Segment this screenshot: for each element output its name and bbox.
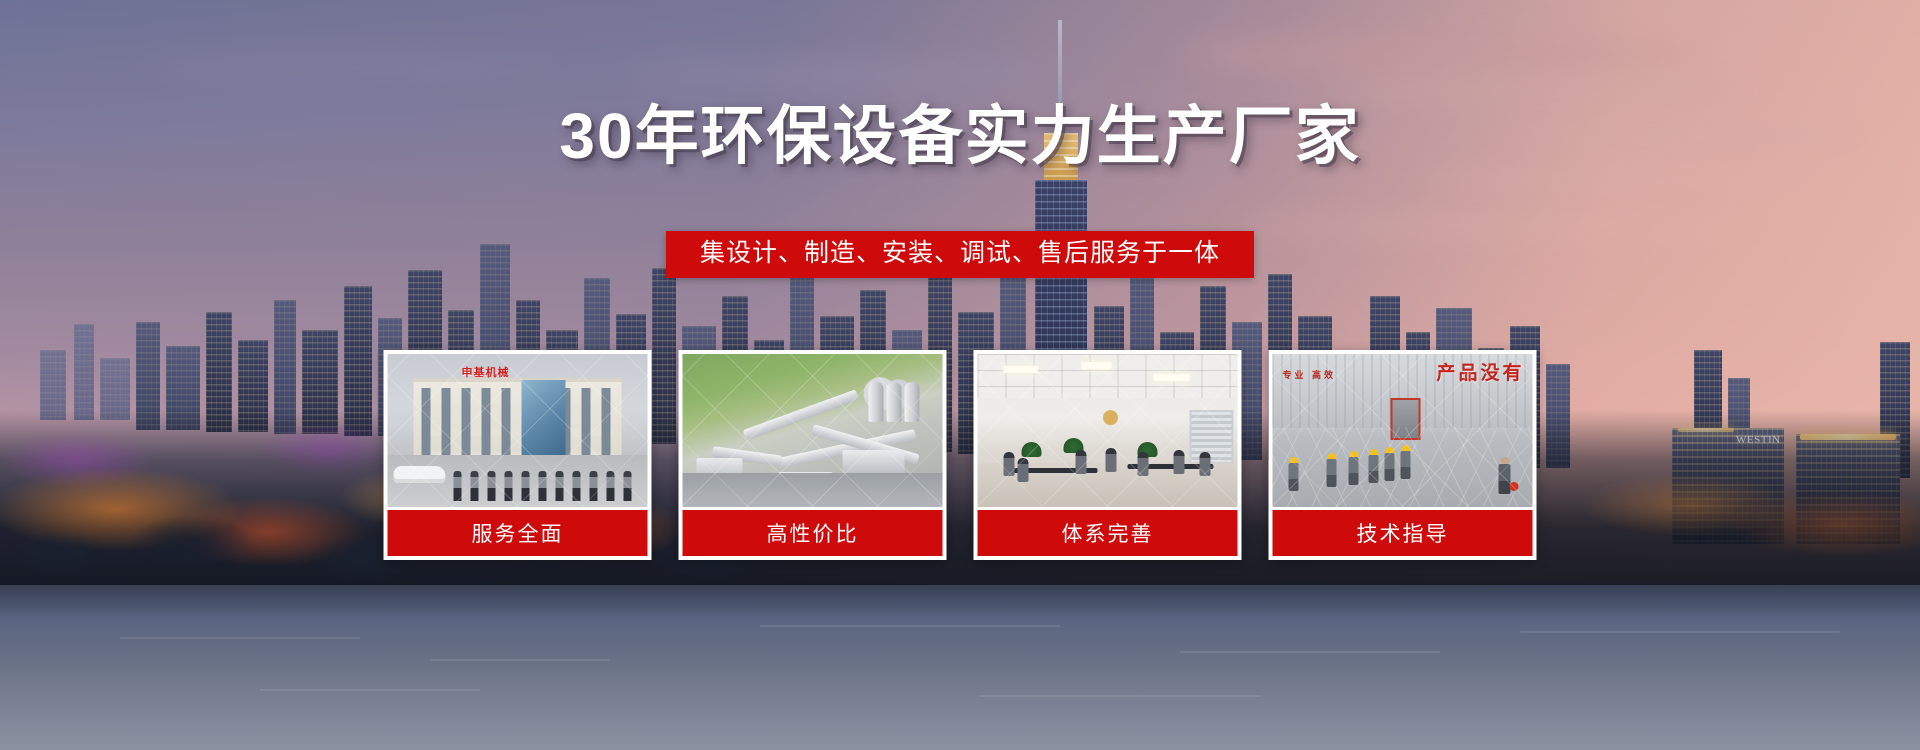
feature-card[interactable]: 体系完善 xyxy=(974,350,1242,560)
feature-card[interactable]: 申基机械 服务全面 xyxy=(384,350,652,560)
feature-card[interactable]: 专业 高效 产品没有 技术指导 xyxy=(1269,350,1537,560)
headline: 30年环保设备实力生产厂家 xyxy=(0,104,1920,168)
card-photo-service: 申基机械 xyxy=(388,354,648,507)
card-photo-plant xyxy=(683,354,943,507)
subtitle-banner: 集设计、制造、安装、调试、售后服务于一体 xyxy=(666,231,1254,278)
feature-card[interactable]: 高性价比 xyxy=(679,350,947,560)
card-label: 服务全面 xyxy=(388,510,648,556)
banner-content: 30年环保设备实力生产厂家 集设计、制造、安装、调试、售后服务于一体 申基机械 xyxy=(0,0,1920,750)
feature-cards: 申基机械 服务全面 xyxy=(384,350,1537,560)
hero-banner: WESTIN 30年环保设备实力生产厂家 集设计、制造、安装、调试、售后服务于一… xyxy=(0,0,1920,750)
card-label: 体系完善 xyxy=(978,510,1238,556)
factory-wall-text: 产品没有 xyxy=(1436,358,1524,385)
card-photo-office xyxy=(978,354,1238,507)
factory-wall-small-text: 专业 高效 xyxy=(1283,368,1337,381)
card-photo-factory: 专业 高效 产品没有 xyxy=(1273,354,1533,507)
card-label: 高性价比 xyxy=(683,510,943,556)
card-label: 技术指导 xyxy=(1273,510,1533,556)
